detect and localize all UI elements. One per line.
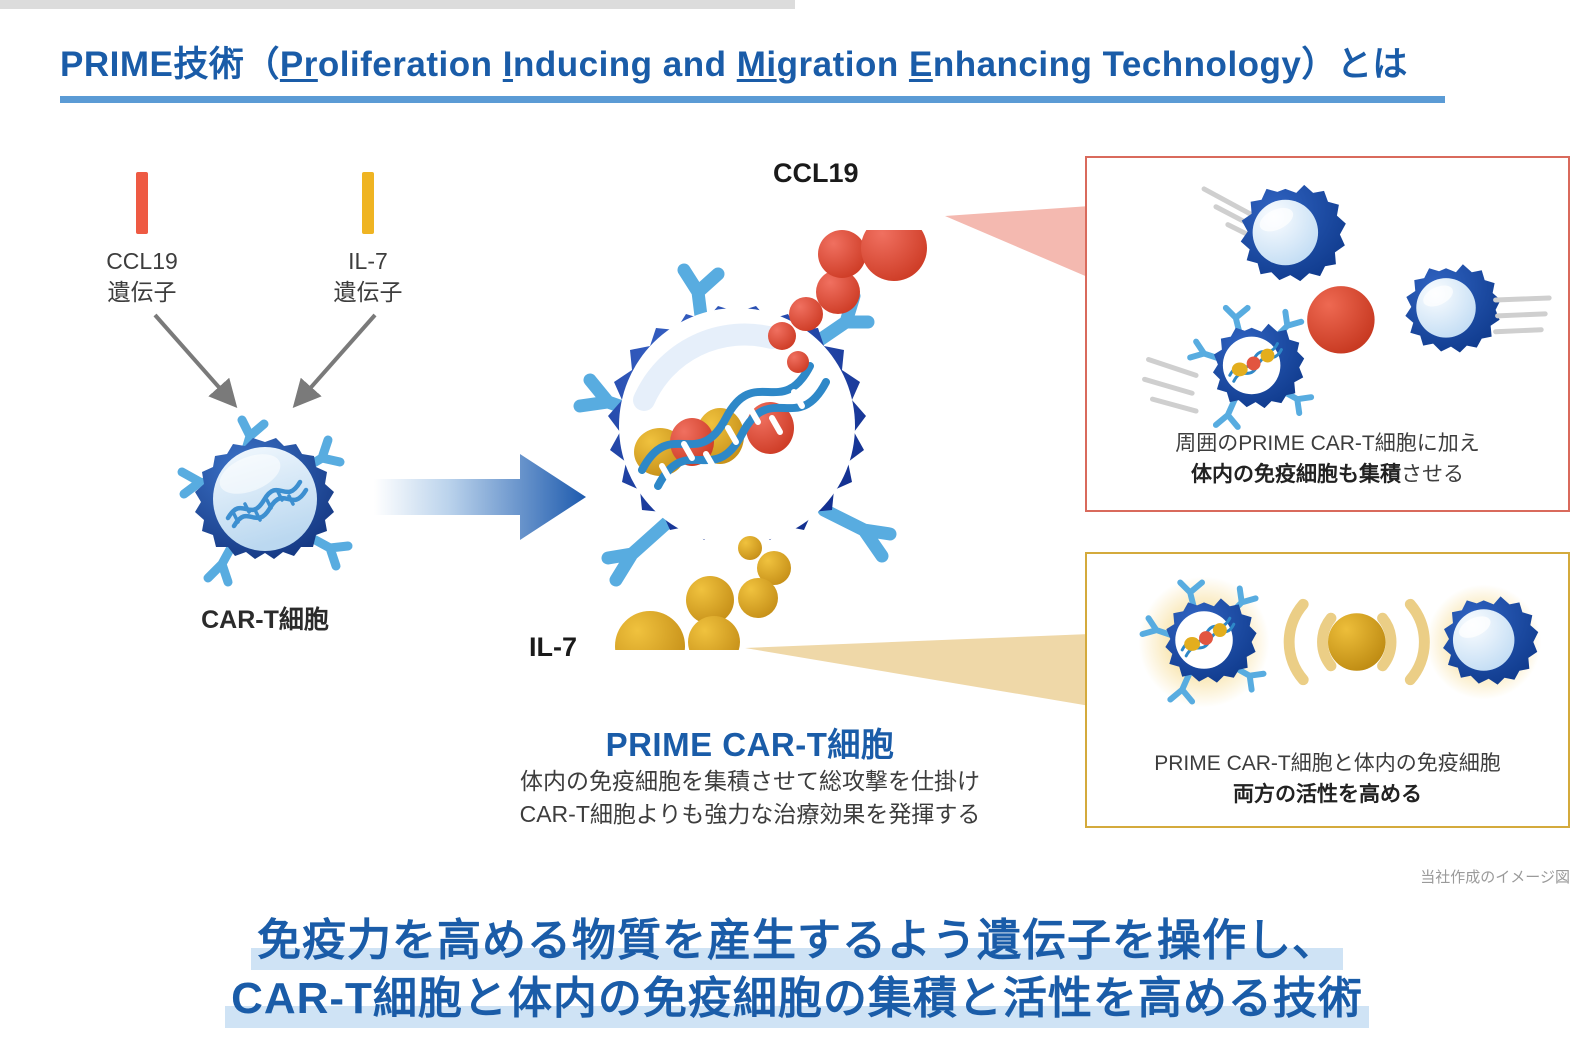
ccl19-gene-label: CCL19 遺伝子 <box>52 246 232 308</box>
migration-caption-line2: 体内の免疫細胞も集積させる <box>1087 460 1568 490</box>
ccl19-gene-bar-icon <box>136 172 148 234</box>
page-title: PRIME技術（Proliferation Inducing and Migra… <box>60 44 1460 86</box>
motion-lines-icon <box>1145 359 1197 411</box>
migration-panel-connector-wedge <box>945 196 1090 281</box>
il7-insertion-arrow-icon <box>270 310 380 420</box>
il7-gene-bar-icon <box>362 172 374 234</box>
migration-panel: 周囲のPRIME CAR-T細胞に加え 体内の免疫細胞も集積させる <box>1085 156 1570 512</box>
migration-illustration <box>1087 162 1568 432</box>
il7-particle-icon <box>1328 613 1386 671</box>
car-t-cell-illustration <box>150 408 380 593</box>
activation-panel-connector-wedge <box>745 626 1090 721</box>
prime-car-t-cell-icon <box>1190 308 1311 427</box>
activation-panel-caption: PRIME CAR-T細胞と体内の免疫細胞 両方の活性を高める <box>1087 749 1568 810</box>
image-attribution: 当社作成のイメージ図 <box>1330 866 1570 887</box>
title-text-rendered: PRIME技術（Proliferation Inducing and Migra… <box>60 45 1408 84</box>
motion-lines-icon <box>1496 298 1550 332</box>
car-t-cell-label: CAR-T細胞 <box>150 600 380 636</box>
page-title-container: PRIME技術（Proliferation Inducing and Migra… <box>60 44 1460 86</box>
ccl19-particle-icon <box>1307 286 1374 353</box>
top-decorative-strip <box>0 0 795 9</box>
summary-line-2: CAR-T細胞と体内の免疫細胞の集積と活性を高める技術 <box>225 970 1369 1028</box>
migration-panel-caption: 周囲のPRIME CAR-T細胞に加え 体内の免疫細胞も集積させる <box>1087 429 1568 490</box>
activation-panel: PRIME CAR-T細胞と体内の免疫細胞 両方の活性を高める <box>1085 552 1570 828</box>
migration-caption-tail: させる <box>1401 463 1464 486</box>
summary-line-1: 免疫力を高める物質を産生するよう遺伝子を操作し、 <box>251 912 1343 970</box>
prime-car-t-cell-name: PRIME CAR-T細胞 <box>450 718 1050 766</box>
immune-cell-icon <box>1405 264 1500 352</box>
summary-statement: 免疫力を高める物質を産生するよう遺伝子を操作し、 CAR-T細胞と体内の免疫細胞… <box>0 912 1594 1028</box>
title-underline-rule <box>60 96 1445 103</box>
activation-illustration <box>1087 568 1568 718</box>
prime-car-t-cell-illustration <box>512 230 962 650</box>
ccl19-molecule-label: CCL19 <box>773 158 859 189</box>
activation-caption-line2: 両方の活性を高める <box>1087 780 1568 810</box>
immune-cell-icon <box>1241 185 1346 281</box>
ccl19-insertion-arrow-icon <box>150 310 260 420</box>
migration-caption-line1: 周囲のPRIME CAR-T細胞に加え <box>1087 429 1568 459</box>
activation-caption-line1: PRIME CAR-T細胞と体内の免疫細胞 <box>1087 749 1568 779</box>
il7-molecule-label: IL-7 <box>529 632 577 663</box>
prime-car-t-cell-description: 体内の免疫細胞を集積させて総攻撃を仕掛け CAR-T細胞よりも強力な治療効果を発… <box>450 765 1050 832</box>
migration-caption-bold: 体内の免疫細胞も集積 <box>1191 463 1401 486</box>
activation-caption-bold: 両方の活性を高める <box>1233 783 1422 806</box>
il7-gene-label: IL-7 遺伝子 <box>278 246 458 308</box>
